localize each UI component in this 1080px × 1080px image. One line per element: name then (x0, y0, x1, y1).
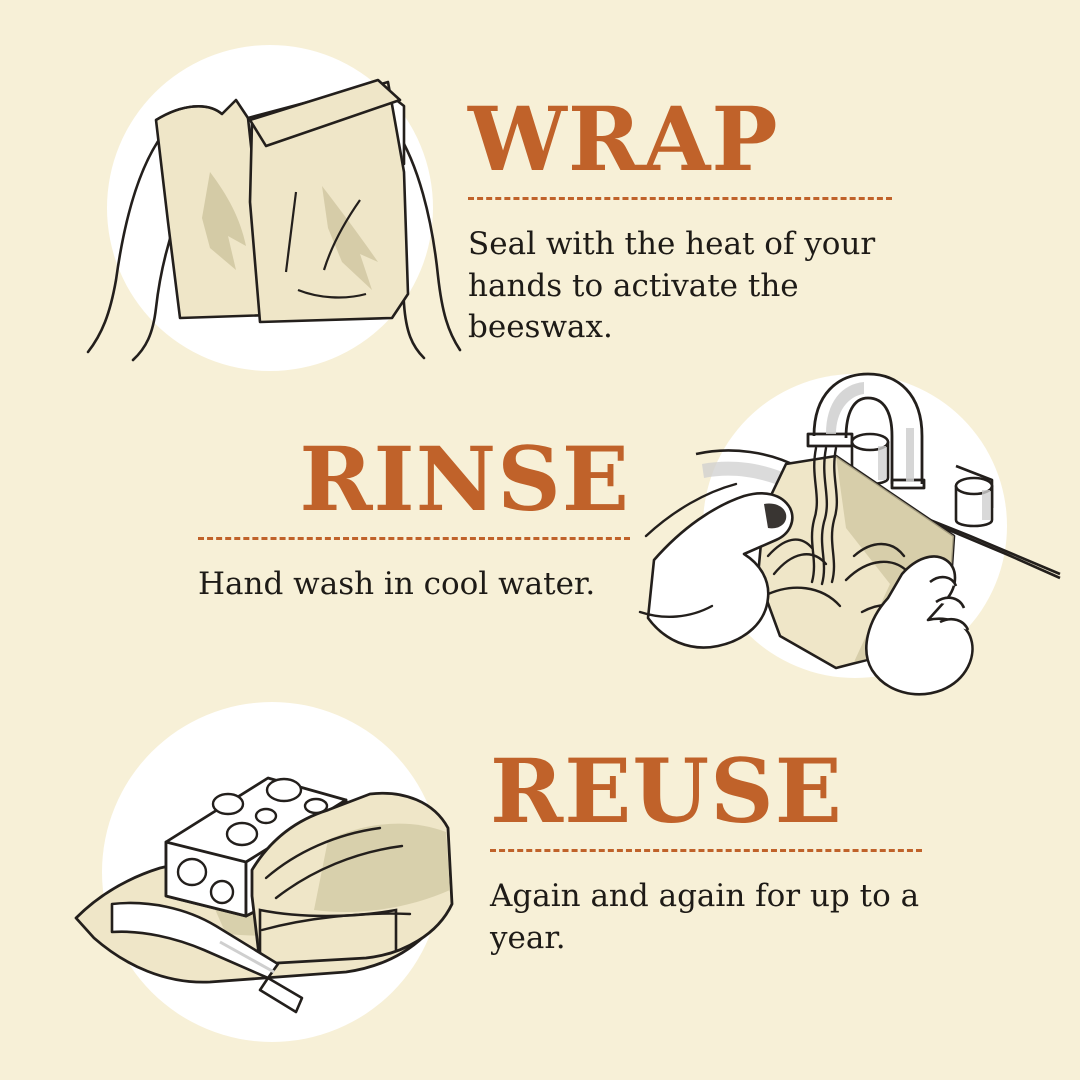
step-reuse-heading: REUSE (490, 752, 922, 831)
step-rinse-heading: RINSE (198, 440, 630, 519)
infographic-canvas: WRAP Seal with the heat of your hands to… (0, 0, 1080, 1080)
step-reuse-text-block: REUSE Again and again for up to a year. (490, 752, 922, 959)
step-rinse-text-block: RINSE Hand wash in cool water. (198, 440, 630, 606)
step-wrap-text-block: WRAP Seal with the heat of your hands to… (468, 100, 892, 349)
step-wrap-heading: WRAP (468, 100, 892, 179)
hands-rinsing-wrap-under-faucet-illustration (640, 368, 1060, 698)
step-reuse-body: Again and again for up to a year. (490, 876, 922, 959)
step-wrap-body: Seal with the heat of your hands to acti… (468, 224, 892, 349)
step-rinse-divider (198, 537, 630, 540)
cheese-block-with-knife-on-wrap-illustration (70, 682, 480, 1062)
step-rinse-body: Hand wash in cool water. (198, 564, 630, 606)
step-wrap-divider (468, 197, 892, 200)
hands-wrapping-cheese-illustration (60, 22, 480, 432)
step-reuse-divider (490, 849, 922, 852)
